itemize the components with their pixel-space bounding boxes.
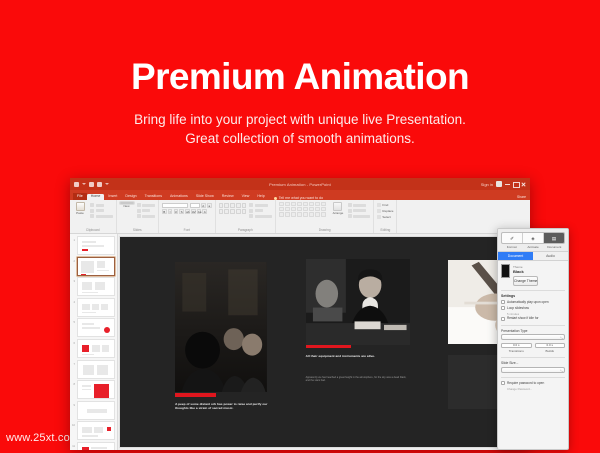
- arrange-label: Arrange: [333, 212, 344, 215]
- tab-file[interactable]: File: [73, 193, 87, 200]
- change-theme-button[interactable]: Change Theme: [513, 276, 538, 286]
- bullets-button[interactable]: [219, 203, 224, 208]
- slide-number: 6: [72, 339, 75, 345]
- hero-subtitle-line2: Great collection of smooth animations.: [0, 129, 600, 149]
- shape-fill-button[interactable]: [348, 203, 371, 207]
- select-icon: [377, 215, 381, 219]
- find-label: Find: [382, 203, 388, 207]
- increase-indent-button[interactable]: [236, 203, 241, 208]
- checkbox[interactable]: [501, 300, 505, 304]
- tab-format[interactable]: ✐: [502, 233, 523, 243]
- section-button[interactable]: [137, 214, 156, 218]
- subtab-document[interactable]: Document: [498, 252, 533, 260]
- slide-number: 5: [72, 318, 75, 324]
- timing-steppers: 0.0 s Transitions 0.0 s Builds: [501, 343, 565, 354]
- shape-cell[interactable]: [315, 212, 320, 216]
- layout-button[interactable]: [137, 203, 156, 207]
- line-spacing-button[interactable]: [242, 203, 247, 208]
- shape-cell[interactable]: [309, 202, 314, 206]
- transitions-value[interactable]: 0.0 s: [501, 343, 532, 349]
- user-signin-label[interactable]: Sign in: [481, 182, 493, 187]
- powerpoint-window: Premium Animation - PowerPoint Sign in F…: [70, 178, 530, 450]
- font-controls: A a B I U S ab AV Aa A: [162, 202, 212, 214]
- format-painter-label: [96, 215, 113, 218]
- shape-outline-button[interactable]: [348, 209, 371, 213]
- builds-stepper[interactable]: 0.0 s Builds: [535, 343, 566, 354]
- shape-cell[interactable]: [315, 202, 320, 206]
- decrease-indent-button[interactable]: [230, 203, 235, 208]
- replace-label: Replace: [382, 209, 393, 213]
- slide-thumbnail[interactable]: [77, 236, 115, 255]
- shape-cell[interactable]: [303, 202, 308, 206]
- current-slide[interactable]: A peep of some distant orb has power to …: [120, 237, 528, 447]
- paste-icon: [76, 202, 85, 211]
- divider: [501, 290, 565, 291]
- businessmen-conversation-photo[interactable]: [175, 262, 267, 392]
- cut-button[interactable]: [90, 203, 113, 207]
- find-button[interactable]: Find: [377, 203, 393, 207]
- shape-cell[interactable]: [309, 212, 314, 216]
- inspector-body: Theme Black Change Theme Settings Automa…: [498, 261, 568, 449]
- settings-title: Settings: [501, 294, 565, 298]
- ribbon-group-paragraph: Paragraph: [216, 200, 276, 233]
- list-item[interactable]: 2: [72, 257, 116, 276]
- copy-button[interactable]: [90, 209, 113, 213]
- new-slide-button[interactable]: New: [120, 202, 134, 208]
- shape-effects-icon: [348, 214, 352, 218]
- slide-number: 10: [72, 421, 75, 427]
- center-accent-bar: [306, 345, 351, 348]
- paste-label: Paste: [76, 212, 84, 215]
- hero-subtitle: Bring life into your project with unique…: [0, 110, 600, 149]
- tab-document-label: Document: [544, 245, 565, 249]
- present-icon[interactable]: [97, 182, 102, 187]
- setting-loop[interactable]: Loop slideshow: [501, 306, 565, 310]
- list-item[interactable]: 8: [72, 380, 116, 399]
- list-item[interactable]: 9: [72, 401, 116, 420]
- font-row-bottom: B I U S ab AV Aa A: [162, 209, 212, 214]
- close-icon[interactable]: [521, 182, 526, 187]
- search-icon: [377, 203, 381, 207]
- layout-label: [142, 204, 155, 207]
- shape-cell[interactable]: [321, 207, 326, 211]
- slide-thumbnail[interactable]: [77, 339, 115, 358]
- new-slide-icon: [120, 202, 134, 204]
- setting-autoplay[interactable]: Automatically play upon open: [501, 300, 565, 304]
- shape-effects-label: [353, 215, 370, 218]
- shape-cell[interactable]: [279, 207, 284, 211]
- list-item[interactable]: 4: [72, 298, 116, 317]
- transitions-stepper[interactable]: 0.0 s Transitions: [501, 343, 532, 354]
- inspector-subtabs[interactable]: Document Audio: [498, 252, 568, 261]
- presentation-type-select[interactable]: [501, 334, 565, 340]
- text-direction-icon: [249, 203, 253, 207]
- section-label: [142, 215, 155, 218]
- font-size-input[interactable]: [190, 203, 200, 208]
- slide-number: 7: [72, 360, 75, 366]
- shape-cell[interactable]: [279, 212, 284, 216]
- character-spacing-button[interactable]: AV: [191, 209, 196, 214]
- slide-thumbnail-selected[interactable]: [77, 257, 115, 276]
- arrange-button[interactable]: Arrange: [331, 202, 345, 215]
- transitions-label: Transitions: [501, 349, 532, 353]
- replace-button[interactable]: Replace: [377, 209, 393, 213]
- justify-button[interactable]: [236, 209, 241, 214]
- scissors-icon: [90, 203, 94, 207]
- reset-icon: [137, 209, 141, 213]
- page-title: Premium Animation: [0, 58, 600, 97]
- tab-document[interactable]: ▤: [544, 233, 564, 243]
- avatar[interactable]: [496, 181, 502, 187]
- text-direction-label: [255, 204, 268, 207]
- tab-animate[interactable]: ◈: [523, 233, 544, 243]
- align-text-button[interactable]: [249, 209, 272, 213]
- divider: [501, 357, 565, 358]
- drawing-extra-commands: Arrange: [329, 202, 345, 215]
- shape-cell[interactable]: [315, 207, 320, 211]
- slide-number: 2: [72, 257, 75, 263]
- slide-thumbnail[interactable]: [77, 380, 115, 399]
- slide-caption-center-body[interactable]: Apparently we had reached a great height…: [306, 376, 408, 383]
- group-label-font: Font: [162, 229, 212, 233]
- inspector-segmented-tabs[interactable]: ✐ ◈ ▤: [501, 232, 565, 244]
- paintbrush-icon: [90, 214, 94, 218]
- man-at-desk-photo[interactable]: [306, 259, 410, 345]
- shape-cell[interactable]: [309, 207, 314, 211]
- ribbon-group-drawing: Arrange Drawing: [276, 200, 375, 233]
- shapes-gallery[interactable]: [279, 202, 326, 217]
- cut-label: [96, 204, 104, 207]
- group-label-editing: Editing: [377, 229, 393, 233]
- center-button[interactable]: [224, 209, 229, 214]
- slide-thumbnail-panel[interactable]: 1 2 3: [70, 234, 118, 450]
- divider: [501, 325, 565, 326]
- shape-outline-label: [353, 209, 366, 212]
- align-text-icon: [249, 209, 253, 213]
- section-icon: [137, 214, 141, 218]
- change-case-button[interactable]: Aa: [197, 209, 202, 214]
- list-item[interactable]: 7: [72, 360, 116, 379]
- ribbon-group-font: A a B I U S ab AV Aa A Font: [159, 200, 216, 233]
- list-item[interactable]: 3: [72, 277, 116, 296]
- shape-style-commands: [348, 202, 371, 218]
- document-title: Premium Animation - PowerPoint: [70, 182, 530, 187]
- align-left-button[interactable]: [219, 209, 224, 214]
- slide-number: 8: [72, 380, 75, 386]
- convert-smartart-button[interactable]: [249, 214, 272, 218]
- animate-icon: ◈: [523, 236, 543, 241]
- font-family-input[interactable]: [162, 203, 188, 208]
- share-button[interactable]: Share: [517, 195, 526, 199]
- theme-swatch[interactable]: [501, 264, 510, 278]
- shape-outline-icon: [348, 209, 352, 213]
- document-inspector-panel: ✐ ◈ ▤ Format Animate Document Document A…: [497, 228, 569, 450]
- hero-subtitle-line1: Bring life into your project with unique…: [0, 110, 600, 130]
- slide-caption-center-heading[interactable]: All their equipment and instruments are …: [306, 354, 408, 358]
- list-item[interactable]: 10: [72, 421, 116, 440]
- font-color-button[interactable]: A: [202, 209, 207, 214]
- window-titlebar: Premium Animation - PowerPoint Sign in: [70, 178, 530, 190]
- customize-qat-icon[interactable]: [105, 183, 109, 185]
- slide-number: 9: [72, 401, 75, 407]
- format-painter-button[interactable]: [90, 214, 113, 218]
- slide-thumbnail[interactable]: [77, 277, 115, 296]
- shape-effects-button[interactable]: [348, 214, 371, 218]
- slide-number: 4: [72, 298, 75, 304]
- slide-canvas-area[interactable]: A peep of some distant orb has power to …: [118, 234, 530, 450]
- minimize-icon[interactable]: [505, 182, 510, 187]
- ribbon-group-clipboard: Paste Clipboard: [70, 200, 117, 233]
- shape-cell[interactable]: [291, 212, 296, 216]
- theme-name: Black: [513, 269, 538, 274]
- setting-label: Loop slideshow: [507, 306, 529, 310]
- shape-cell[interactable]: [297, 212, 302, 216]
- paragraph-row-middle: [219, 209, 247, 214]
- change-password-link[interactable]: Change Password...: [501, 387, 565, 391]
- shape-cell[interactable]: [303, 207, 308, 211]
- list-item[interactable]: 11: [72, 442, 116, 450]
- slide-number: 11: [72, 442, 75, 448]
- decrease-font-size-icon[interactable]: a: [207, 203, 212, 208]
- password-label: Require password to open: [507, 381, 544, 385]
- copy-icon: [90, 209, 94, 213]
- shape-cell[interactable]: [297, 207, 302, 211]
- watermark: www.25xt.com: [6, 432, 79, 444]
- group-label-paragraph: Paragraph: [219, 229, 272, 233]
- photo-artwork: [306, 259, 410, 345]
- shape-cell[interactable]: [321, 202, 326, 206]
- hero-section: Premium Animation Bring life into your p…: [0, 0, 600, 149]
- numbering-button[interactable]: [224, 203, 229, 208]
- group-label-drawing: Drawing: [279, 229, 371, 233]
- slide-size-label: Slide Size...: [501, 361, 565, 365]
- smartart-label: [255, 215, 272, 218]
- shape-cell[interactable]: [279, 202, 284, 206]
- photo-artwork: [175, 262, 267, 392]
- italic-button[interactable]: I: [168, 209, 173, 214]
- save-icon[interactable]: [74, 182, 79, 187]
- list-item[interactable]: 5: [72, 318, 116, 337]
- reset-button[interactable]: [137, 209, 156, 213]
- select-label: Select: [382, 215, 390, 219]
- left-accent-bar: [175, 393, 216, 396]
- slide-thumbnail[interactable]: [77, 318, 115, 337]
- group-label-slides: Slides: [120, 229, 156, 233]
- align-right-button[interactable]: [230, 209, 235, 214]
- undo-icon[interactable]: [82, 183, 86, 185]
- shape-cell[interactable]: [285, 212, 290, 216]
- redo-icon[interactable]: [89, 182, 94, 187]
- slide-caption-left[interactable]: A peep of some distant orb has power to …: [175, 402, 273, 410]
- workspace: 1 2 3: [70, 234, 530, 450]
- paste-button[interactable]: Paste: [73, 202, 87, 215]
- shape-cell[interactable]: [303, 212, 308, 216]
- copy-label: [96, 209, 104, 212]
- ribbon-tabstrip: File Home Insert Design Transitions Anim…: [70, 190, 530, 200]
- slide-size-select[interactable]: [501, 367, 565, 373]
- setting-label: Restart show if idle for: [507, 316, 539, 320]
- builds-label: Builds: [535, 349, 566, 353]
- shape-fill-icon: [348, 203, 352, 207]
- ribbon-group-slides: New Slides: [117, 200, 160, 233]
- shape-cell[interactable]: [285, 207, 290, 211]
- reset-label: [142, 209, 150, 212]
- shape-cell[interactable]: [285, 202, 290, 206]
- font-row-top: A a: [162, 203, 212, 208]
- layout-icon: [137, 203, 141, 207]
- tab-animate-label: Animate: [522, 245, 543, 249]
- new-slide-label: New: [123, 205, 129, 208]
- format-icon: ✐: [502, 236, 522, 241]
- subtab-audio[interactable]: Audio: [533, 252, 568, 260]
- inspector-tab-labels: Format Animate Document: [501, 245, 565, 249]
- editing-commands: Find Replace Select: [377, 202, 393, 219]
- paragraph-row-top: [219, 203, 247, 208]
- smartart-icon: [249, 214, 253, 218]
- slide-number: 3: [72, 277, 75, 283]
- slides-minor-commands: [137, 202, 156, 218]
- tab-format-label: Format: [501, 245, 522, 249]
- setting-label: Automatically play upon open: [507, 300, 549, 304]
- presentation-type-label: Presentation Type: [501, 329, 565, 333]
- shape-cell[interactable]: [291, 207, 296, 211]
- checkbox[interactable]: [501, 381, 505, 385]
- replace-icon: [377, 209, 381, 213]
- bold-button[interactable]: B: [162, 209, 167, 214]
- checkbox[interactable]: [501, 306, 505, 310]
- slide-thumbnail[interactable]: [77, 421, 115, 440]
- document-icon: ▤: [544, 236, 564, 241]
- text-shadow-button[interactable]: S: [179, 209, 184, 214]
- columns-button[interactable]: [242, 209, 247, 214]
- shape-cell[interactable]: [297, 202, 302, 206]
- slide-thumbnail[interactable]: [77, 442, 115, 450]
- shape-cell[interactable]: [291, 202, 296, 206]
- setting-restart-idle[interactable]: Restart show if idle for: [501, 316, 565, 320]
- paragraph-extra-commands: [249, 202, 272, 218]
- titlebar-right: Sign in: [481, 181, 526, 187]
- increase-font-size-icon[interactable]: A: [201, 203, 206, 208]
- strikethrough-button[interactable]: ab: [185, 209, 190, 214]
- shape-cell[interactable]: [321, 212, 326, 216]
- checkbox[interactable]: [501, 317, 505, 321]
- theme-info: Theme Black Change Theme: [513, 264, 538, 286]
- theme-section: Theme Black Change Theme: [501, 264, 565, 286]
- align-text-label: [255, 209, 263, 212]
- shape-fill-label: [353, 204, 366, 207]
- list-item[interactable]: 6: [72, 339, 116, 358]
- slide-thumbnail[interactable]: [77, 298, 115, 317]
- ribbon-group-editing: Find Replace Select Editing: [374, 200, 397, 233]
- underline-button[interactable]: U: [174, 209, 179, 214]
- slide-thumbnail[interactable]: [77, 360, 115, 379]
- builds-value[interactable]: 0.0 s: [535, 343, 566, 349]
- select-button[interactable]: Select: [377, 215, 393, 219]
- setting-require-password[interactable]: Require password to open: [501, 381, 565, 385]
- slide-number: 1: [72, 236, 75, 242]
- clipboard-minor-commands: [90, 202, 113, 218]
- divider: [501, 377, 565, 378]
- slide-thumbnail[interactable]: [77, 401, 115, 420]
- maximize-icon[interactable]: [513, 182, 518, 187]
- quick-access-toolbar[interactable]: [74, 182, 109, 187]
- paragraph-controls: [219, 202, 247, 214]
- list-item[interactable]: 1: [72, 236, 116, 255]
- group-label-clipboard: Clipboard: [73, 229, 113, 233]
- ribbon: Paste Clipboard New: [70, 200, 530, 234]
- arrange-icon: [333, 202, 342, 211]
- inspector-header: ✐ ◈ ▤ Format Animate Document: [498, 229, 568, 252]
- text-direction-button[interactable]: [249, 203, 272, 207]
